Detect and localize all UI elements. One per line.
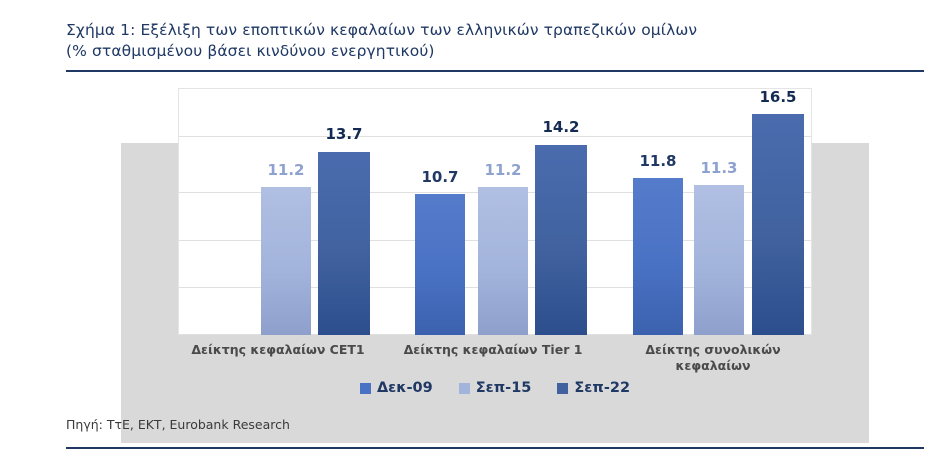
bar[interactable] [752,114,804,335]
bar-series-container: 11.2 13.7 10.7 11.2 14.2 11.8 11.3 16.5 [178,88,812,335]
legend-item-dec09[interactable]: Δεκ-09 [360,380,433,396]
bar[interactable] [318,152,370,335]
legend-label: Σεπ-15 [476,380,532,396]
left-gray-panel [121,143,178,443]
bar-value-label: 11.3 [694,159,744,177]
legend-item-sep22[interactable]: Σεπ-22 [557,380,630,396]
bar[interactable] [535,145,587,335]
figure-title-line-2: (% σταθμισμένου βάσει κινδύνου ενεργητικ… [66,41,826,62]
category-label-cet1: Δείκτης κεφαλαίων CET1 [178,342,378,358]
bar[interactable] [633,178,683,335]
source-note: Πηγή: ΤτΕ, ΕΚΤ, Eurobank Research [66,417,290,432]
legend-label: Σεπ-22 [574,380,630,396]
figure-page: Σχήμα 1: Εξέλιξη των εποπτικών κεφαλαίων… [0,0,947,452]
bar-value-label: 11.2 [478,161,528,179]
bar[interactable] [478,187,528,335]
chart-legend: Δεκ-09 Σεπ-15 Σεπ-22 [178,380,812,396]
legend-swatch-icon [459,383,470,394]
right-gray-panel [812,143,869,443]
bar-value-label: 11.8 [633,152,683,170]
bottom-divider [66,447,924,449]
legend-swatch-icon [557,383,568,394]
legend-item-sep15[interactable]: Σεπ-15 [459,380,532,396]
bar[interactable] [415,194,465,335]
bar-value-label: 11.2 [261,161,311,179]
bar-value-label: 14.2 [535,118,587,136]
category-label-total: Δείκτης συνολικών κεφαλαίων [614,342,812,374]
category-label-line-2: κεφαλαίων [614,358,812,374]
figure-title: Σχήμα 1: Εξέλιξη των εποπτικών κεφαλαίων… [66,20,826,62]
figure-title-line-1: Σχήμα 1: Εξέλιξη των εποπτικών κεφαλαίων… [66,20,826,41]
category-label-line-1: Δείκτης κεφαλαίων Tier 1 [388,342,598,358]
bar-value-label: 10.7 [415,168,465,186]
bar[interactable] [261,187,311,335]
legend-swatch-icon [360,383,371,394]
bar-value-label: 13.7 [318,125,370,143]
category-label-tier1: Δείκτης κεφαλαίων Tier 1 [388,342,598,358]
legend-label: Δεκ-09 [377,380,433,396]
category-label-line-1: Δείκτης συνολικών [614,342,812,358]
bar[interactable] [694,185,744,335]
bar-value-label: 16.5 [752,88,804,106]
category-label-line-1: Δείκτης κεφαλαίων CET1 [178,342,378,358]
title-divider [66,70,924,72]
